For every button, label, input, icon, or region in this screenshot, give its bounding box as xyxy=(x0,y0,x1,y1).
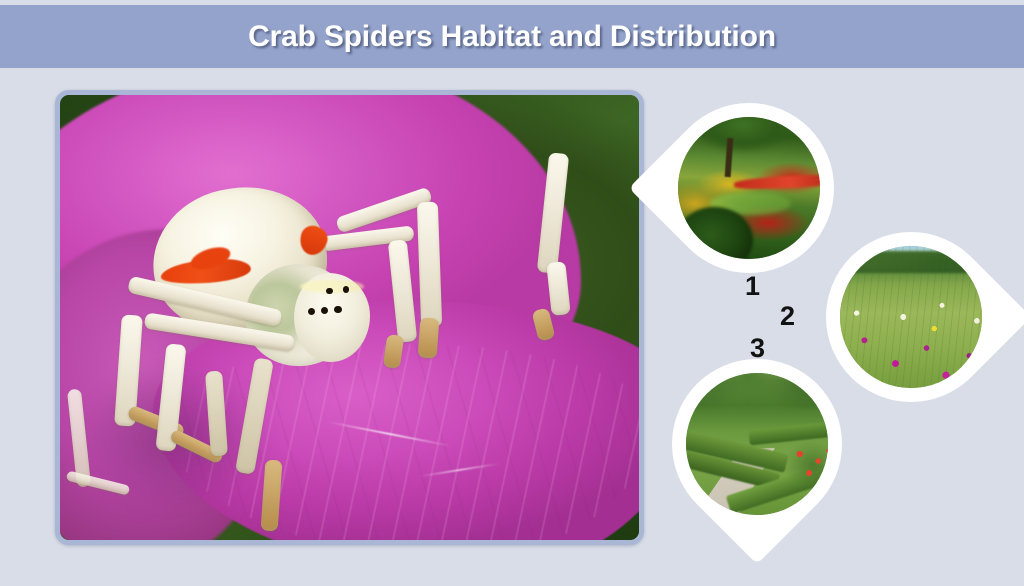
spider-leg-hind-right xyxy=(205,370,228,456)
title-bar: Crab Spiders Habitat and Distribution xyxy=(0,5,1024,68)
garden-tree xyxy=(687,117,799,161)
habitat-number-3: 3 xyxy=(750,335,765,362)
page-title: Crab Spiders Habitat and Distribution xyxy=(248,20,776,54)
spider-leg-far-mid xyxy=(547,261,571,316)
garden-flower-bed xyxy=(733,173,820,190)
wildflower-meadow-photo xyxy=(840,246,982,388)
spider-leg-second-right-tibia xyxy=(388,239,418,343)
spider-leg-stray-lower-tip xyxy=(65,470,129,495)
spider-leg-front-right-tarsus xyxy=(418,317,439,358)
spider-leg-second-right-tarsus xyxy=(383,334,405,369)
crab-spider xyxy=(60,95,639,540)
garden-scene xyxy=(678,117,820,259)
habitat-thumbnails-group: 1 2 3 xyxy=(650,95,1024,565)
hedge-garden-scene xyxy=(686,373,828,515)
spider-eye xyxy=(326,288,332,294)
spider-eye xyxy=(308,308,315,315)
main-image-frame xyxy=(55,90,644,545)
botanical-flower-garden-photo xyxy=(678,117,820,259)
slide-root: Crab Spiders Habitat and Distribution xyxy=(0,0,1024,576)
habitat-number-2: 2 xyxy=(780,303,795,330)
meadow-wildflowers xyxy=(840,246,982,388)
spider-leg-hind-left-tip xyxy=(260,459,282,531)
meadow-scene xyxy=(840,246,982,388)
crab-spider-photo xyxy=(60,95,639,540)
spider-leg-hind-left xyxy=(235,357,273,474)
hedge-garden-trees xyxy=(686,373,828,409)
garden-bush xyxy=(678,207,753,259)
formal-hedge-garden-photo xyxy=(686,373,828,515)
habitat-number-1: 1 xyxy=(745,273,760,300)
spider-eye xyxy=(343,286,349,292)
spider-leg-front-right-tibia xyxy=(417,201,442,326)
rose-bush xyxy=(780,440,828,490)
spider-leg-far-upper xyxy=(537,152,569,274)
spider-eye xyxy=(334,306,341,313)
